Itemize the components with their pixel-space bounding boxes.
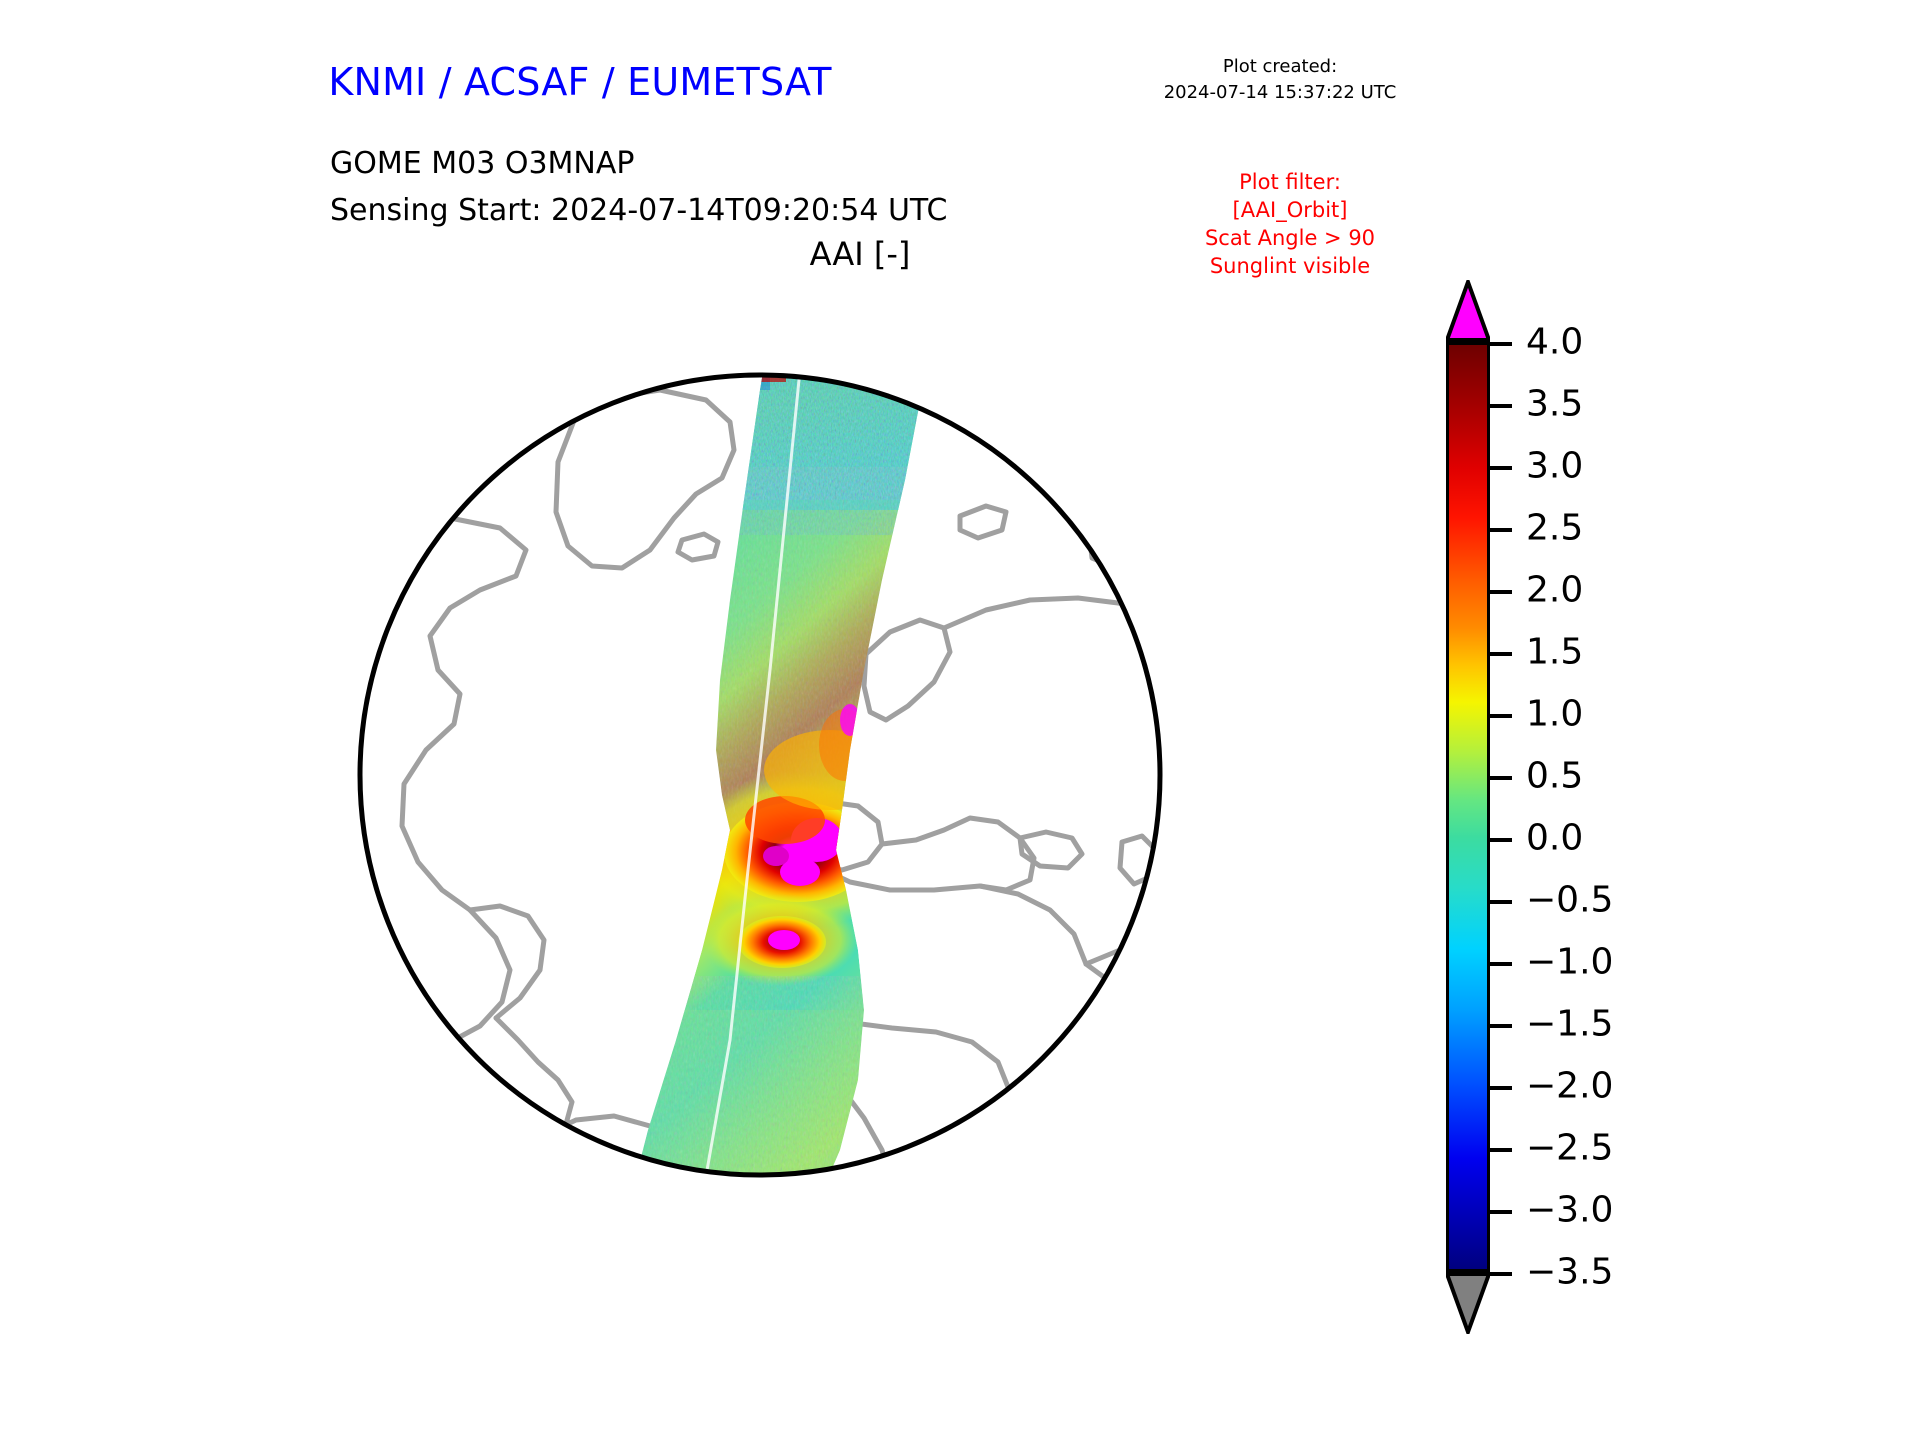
colorbar-tick-mark xyxy=(1490,838,1512,842)
colorbar-tick-label: 2.5 xyxy=(1526,508,1583,549)
plot-filter-label: Plot filter: xyxy=(1120,168,1460,196)
colorbar-tick-label: −1.0 xyxy=(1526,942,1613,983)
colorbar-under-arrow-icon xyxy=(1446,1272,1490,1334)
colorbar-tick-label: 1.5 xyxy=(1526,632,1583,673)
colorbar-tick-label: 0.0 xyxy=(1526,818,1583,859)
colorbar-tick-mark xyxy=(1490,590,1512,594)
colorbar-tick-mark xyxy=(1490,1272,1512,1276)
colorbar-tick-mark xyxy=(1490,1148,1512,1152)
colorbar-tick-label: −3.5 xyxy=(1526,1252,1613,1293)
sensing-start-line: Sensing Start: 2024-07-14T09:20:54 UTC xyxy=(330,187,947,234)
colorbar-over-arrow-icon xyxy=(1446,280,1490,342)
plot-filter-name: [AAI_Orbit] xyxy=(1120,196,1460,224)
colorbar-tick-label: 3.0 xyxy=(1526,446,1583,487)
colorbar-tick-mark xyxy=(1490,342,1512,346)
colorbar-tick-mark xyxy=(1490,714,1512,718)
colorbar-tick-mark xyxy=(1490,1024,1512,1028)
colorbar-gradient-bar xyxy=(1446,342,1490,1272)
plot-created-timestamp: 2024-07-14 15:37:22 UTC xyxy=(1100,80,1460,106)
colorbar-tick-mark xyxy=(1490,404,1512,408)
organization-title: KNMI / ACSAF / EUMETSAT xyxy=(0,60,1160,104)
colorbar-tick-label: −3.0 xyxy=(1526,1190,1613,1231)
colorbar-tick-mark xyxy=(1490,1086,1512,1090)
colorbar-tick-label: 1.0 xyxy=(1526,694,1583,735)
colorbar[interactable]: 4.03.53.02.52.01.51.00.50.0−0.5−1.0−1.5−… xyxy=(1440,280,1860,1340)
colorbar-tick-mark xyxy=(1490,776,1512,780)
colorbar-tick-mark xyxy=(1490,1210,1512,1214)
colorbar-tick-label: 2.0 xyxy=(1526,570,1583,611)
colorbar-tick-label: −0.5 xyxy=(1526,880,1613,921)
colorbar-tick-mark xyxy=(1490,466,1512,470)
plot-filter-condition: Scat Angle > 90 xyxy=(1120,224,1460,252)
colorbar-tick-label: 3.5 xyxy=(1526,384,1583,425)
colorbar-tick-label: −1.5 xyxy=(1526,1004,1613,1045)
instrument-line: GOME M03 O3MNAP xyxy=(330,140,947,187)
colorbar-tick-label: −2.0 xyxy=(1526,1066,1613,1107)
colorbar-tick-mark xyxy=(1490,652,1512,656)
colorbar-tick-label: 0.5 xyxy=(1526,756,1583,797)
plot-created-label: Plot created: xyxy=(1100,54,1460,80)
colorbar-tick-mark xyxy=(1490,900,1512,904)
colorbar-tick-mark xyxy=(1490,962,1512,966)
map-canvas[interactable] xyxy=(330,250,1410,1370)
orthographic-globe xyxy=(330,250,1410,1370)
colorbar-tick-label: 4.0 xyxy=(1526,322,1583,363)
colorbar-tick-label: −2.5 xyxy=(1526,1128,1613,1169)
dataset-info-block: GOME M03 O3MNAP Sensing Start: 2024-07-1… xyxy=(330,140,947,234)
plot-created-block: Plot created: 2024-07-14 15:37:22 UTC xyxy=(1100,54,1460,106)
colorbar-tick-mark xyxy=(1490,528,1512,532)
